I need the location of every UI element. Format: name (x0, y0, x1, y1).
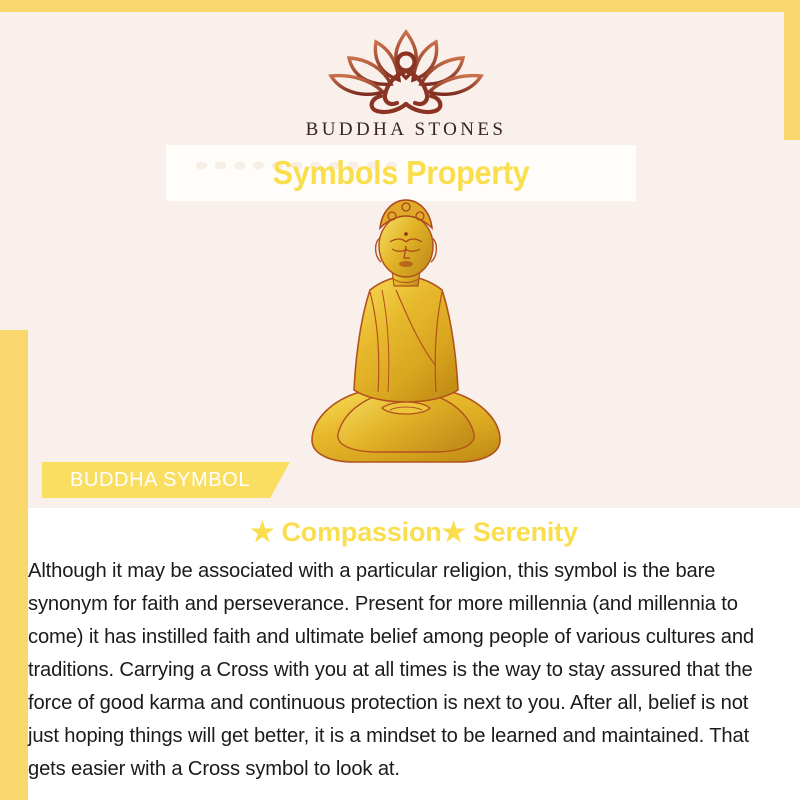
section-ribbon-label: BUDDHA SYMBOL (70, 469, 250, 492)
brand-logo: BUDDHA STONES (28, 22, 784, 141)
content-panel: ★ Compassion★ Serenity Although it may b… (28, 508, 800, 800)
hero-image-wrap (28, 194, 784, 479)
section-ribbon: BUDDHA SYMBOL (42, 462, 290, 498)
golden-seated-buddha-statue-icon (286, 194, 526, 479)
lotus-meditation-icon (321, 22, 491, 117)
title-banner: Symbols Property (166, 145, 636, 201)
page-title: Symbols Property (273, 154, 530, 192)
frame-border-top (0, 0, 800, 12)
frame-border-left (0, 330, 28, 760)
infographic-poster: BUDDHA STONES Symbols Property (0, 0, 800, 800)
frame-border-right (784, 0, 800, 140)
content-paragraph: Although it may be associated with a par… (28, 554, 788, 785)
brand-name: BUDDHA STONES (28, 119, 784, 141)
hero-stage: BUDDHA STONES Symbols Property (28, 12, 784, 508)
content-subtitle: ★ Compassion★ Serenity (28, 517, 800, 548)
